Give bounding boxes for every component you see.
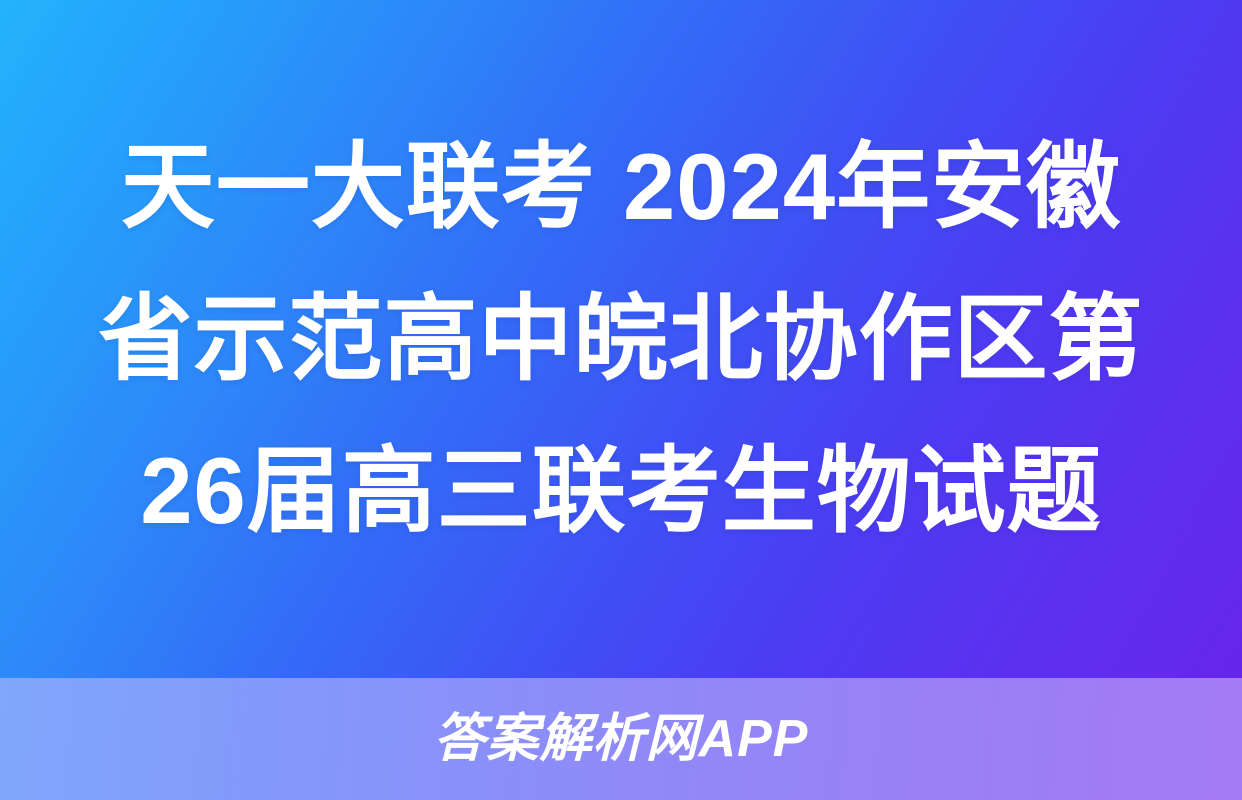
watermark-brand-label: 答案解析网APP <box>434 713 809 765</box>
share-card-screen: 天一大联考 2024年安徽 省示范高中皖北协作区第 26届高三联考生物试题 答案… <box>0 0 1242 800</box>
watermark-band: 答案解析网APP <box>0 678 1242 800</box>
page-title-line-2: 省示范高中皖北协作区第 <box>66 263 1176 415</box>
page-title-line-3: 26届高三联考生物试题 <box>66 415 1176 567</box>
page-title: 天一大联考 2024年安徽 省示范高中皖北协作区第 26届高三联考生物试题 <box>66 111 1176 567</box>
page-title-line-1: 天一大联考 2024年安徽 <box>66 111 1176 263</box>
cover-gradient-card: 天一大联考 2024年安徽 省示范高中皖北协作区第 26届高三联考生物试题 <box>0 0 1242 678</box>
